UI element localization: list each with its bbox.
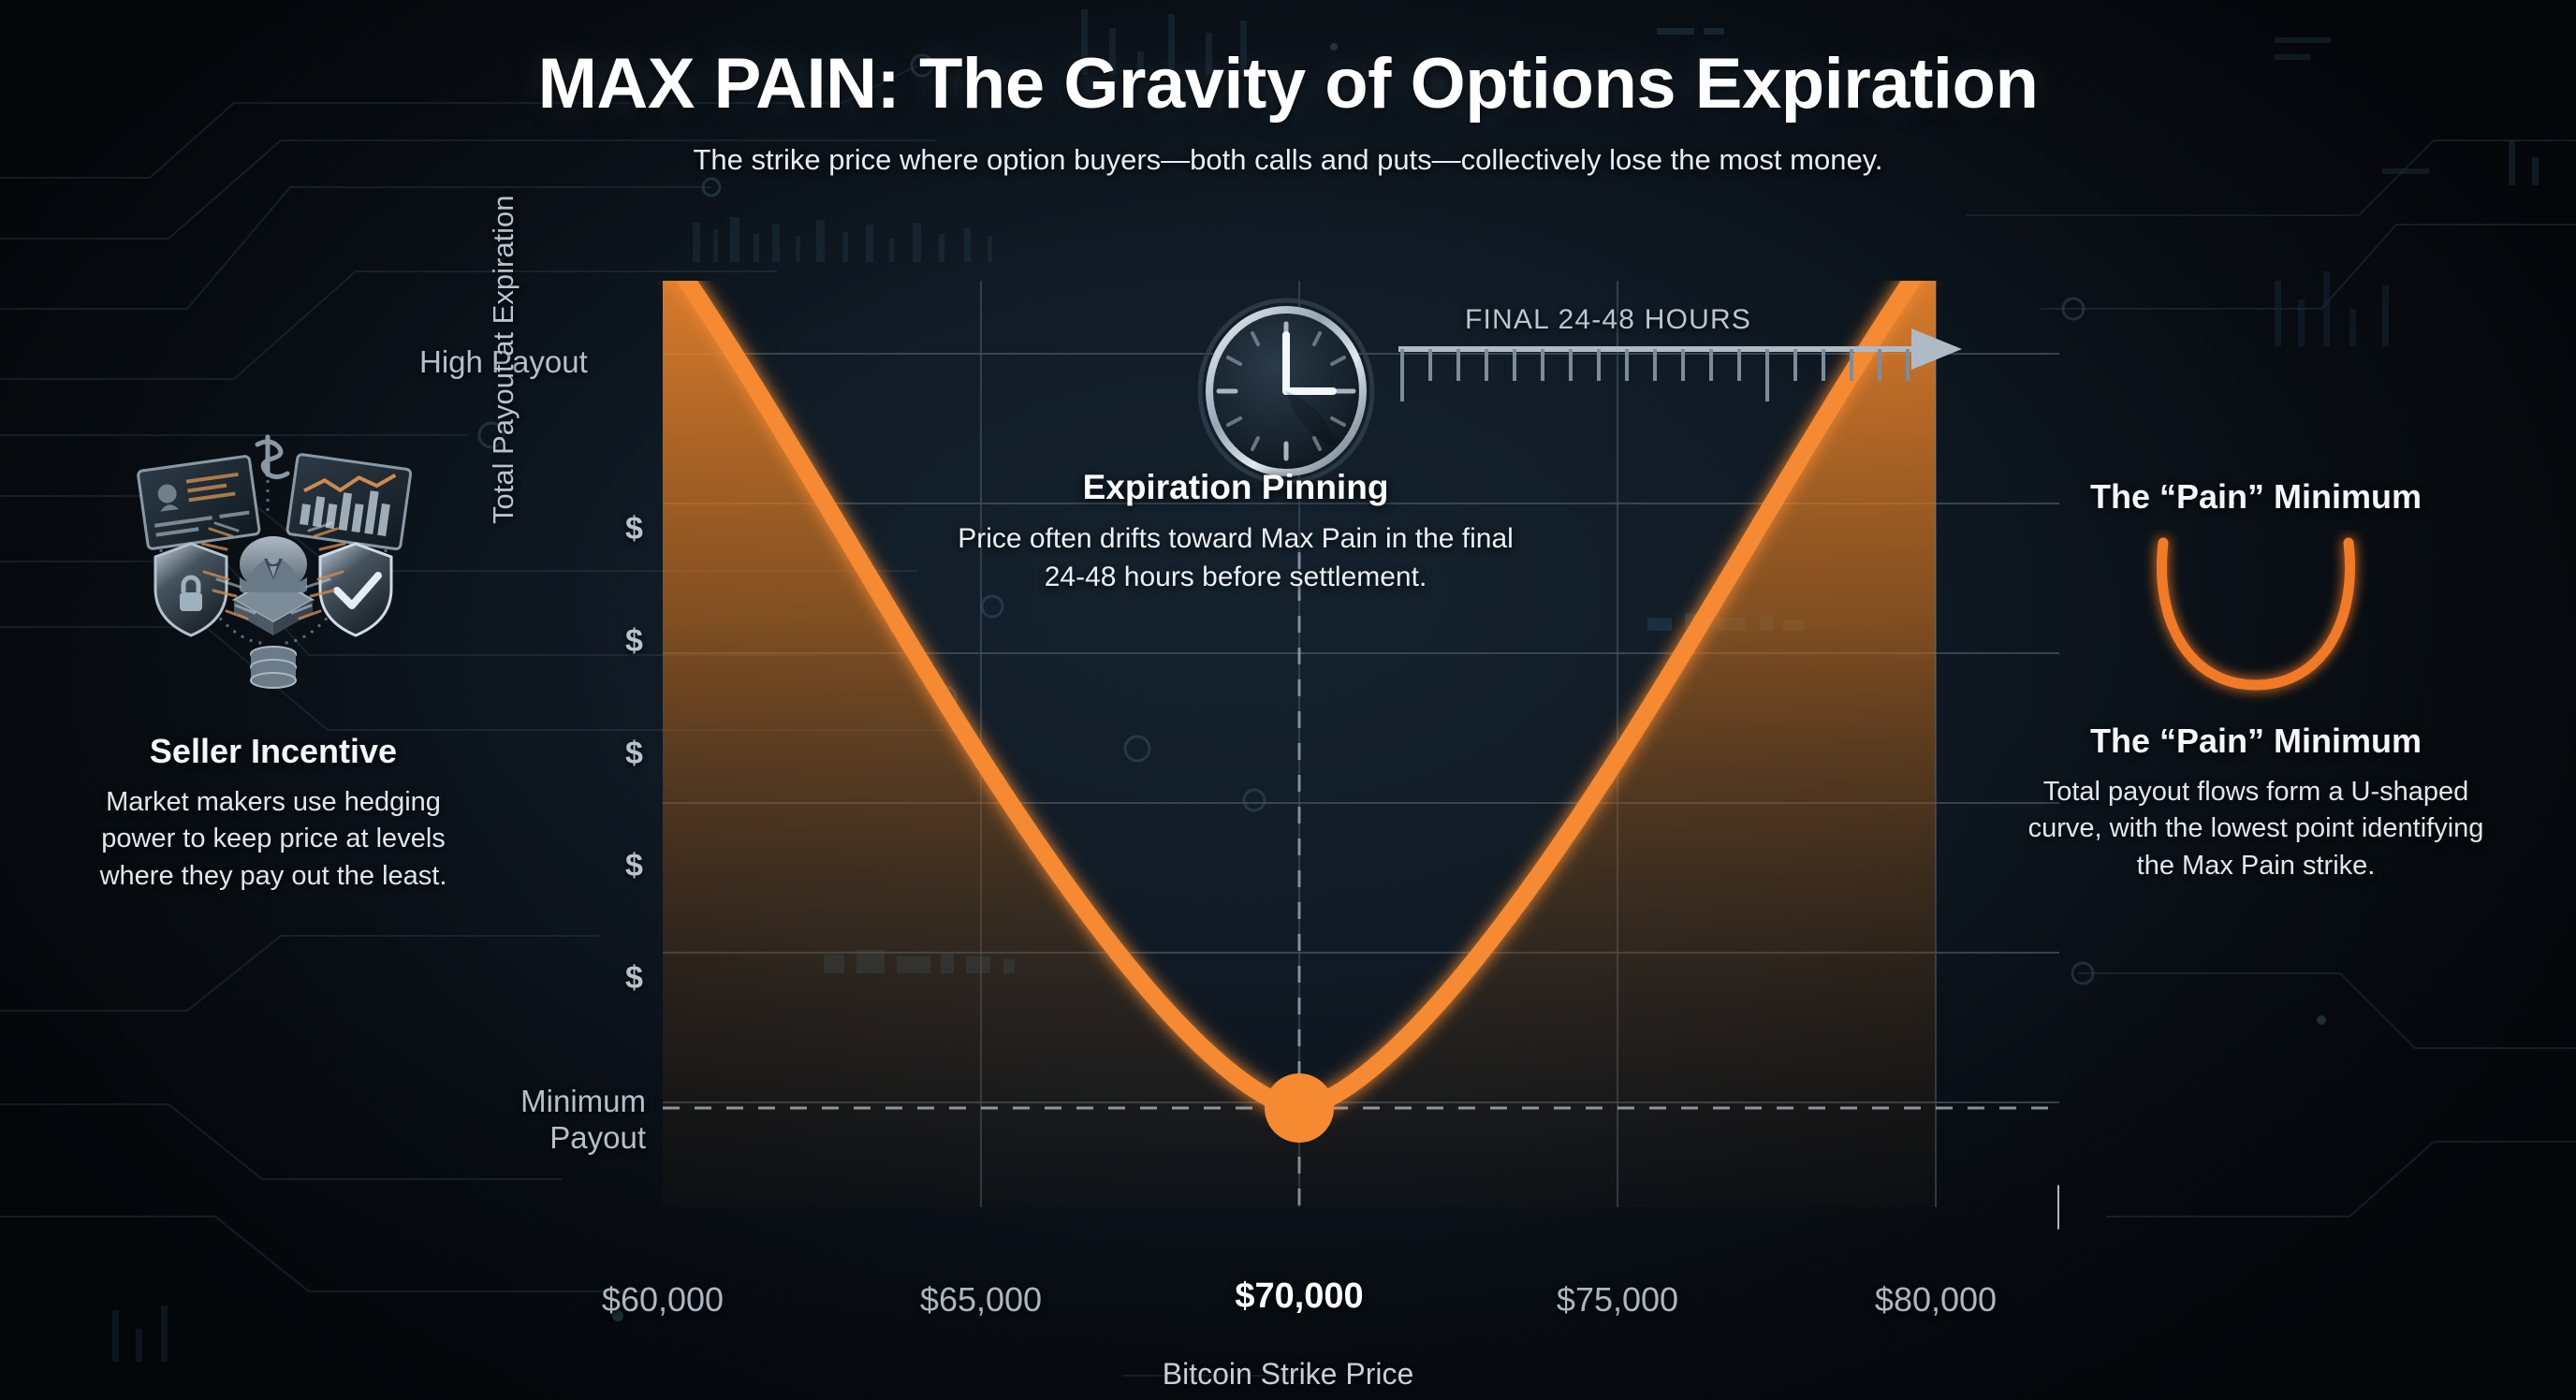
right-panel-heading: The “Pain” Minimum	[2017, 477, 2495, 517]
x-tick-70000: $70,000	[1178, 1276, 1421, 1317]
x-tick-60000: $60,000	[541, 1280, 784, 1320]
y-axis-bottom-label: MinimumPayout	[412, 1084, 646, 1157]
left-panel-body: Market makers use hedging power to keep …	[67, 784, 479, 895]
timeline-label: FINAL 24-48 HOURS	[1465, 304, 1751, 336]
y-axis-title: Total Payout at Expiration	[487, 195, 520, 524]
expiration-pinning-callout: Expiration Pinning Price often drifts to…	[936, 468, 1535, 596]
left-panel-title: Seller Incentive	[67, 732, 479, 771]
right-panel-body: Total payout flows form a U-shaped curve…	[2017, 774, 2495, 884]
callout-title: Expiration Pinning	[936, 468, 1535, 507]
y-tick-0: $	[625, 511, 643, 547]
trader-monitors-shields-icon	[105, 426, 442, 707]
page-subtitle: The strike price where option buyers—bot…	[0, 143, 2576, 177]
pain-minimum-panel: The “Pain” Minimum The “Pain” Minimum To…	[2017, 477, 2495, 884]
callout-body: Price often drifts toward Max Pain in th…	[936, 520, 1535, 596]
y-tick-1: $	[625, 623, 643, 660]
y-tick-2: $	[625, 736, 643, 772]
right-panel-title: The “Pain” Minimum	[2017, 722, 2495, 761]
u-curve-icon	[2101, 530, 2410, 707]
x-tick-65000: $65,000	[859, 1280, 1103, 1320]
header: MAX PAIN: The Gravity of Options Expirat…	[0, 43, 2576, 177]
y-tick-3: $	[625, 848, 643, 884]
x-tick-75000: $75,000	[1496, 1280, 1739, 1320]
x-axis-title: Bitcoin Strike Price	[0, 1357, 2576, 1392]
seller-incentive-panel: Seller Incentive Market makers use hedgi…	[67, 426, 479, 895]
page-title: MAX PAIN: The Gravity of Options Expirat…	[0, 43, 2576, 124]
clock-icon	[1196, 298, 1376, 485]
y-tick-4: $	[625, 960, 643, 997]
max-pain-point-marker	[1265, 1073, 1334, 1143]
x-tick-80000: $80,000	[1814, 1280, 2057, 1320]
